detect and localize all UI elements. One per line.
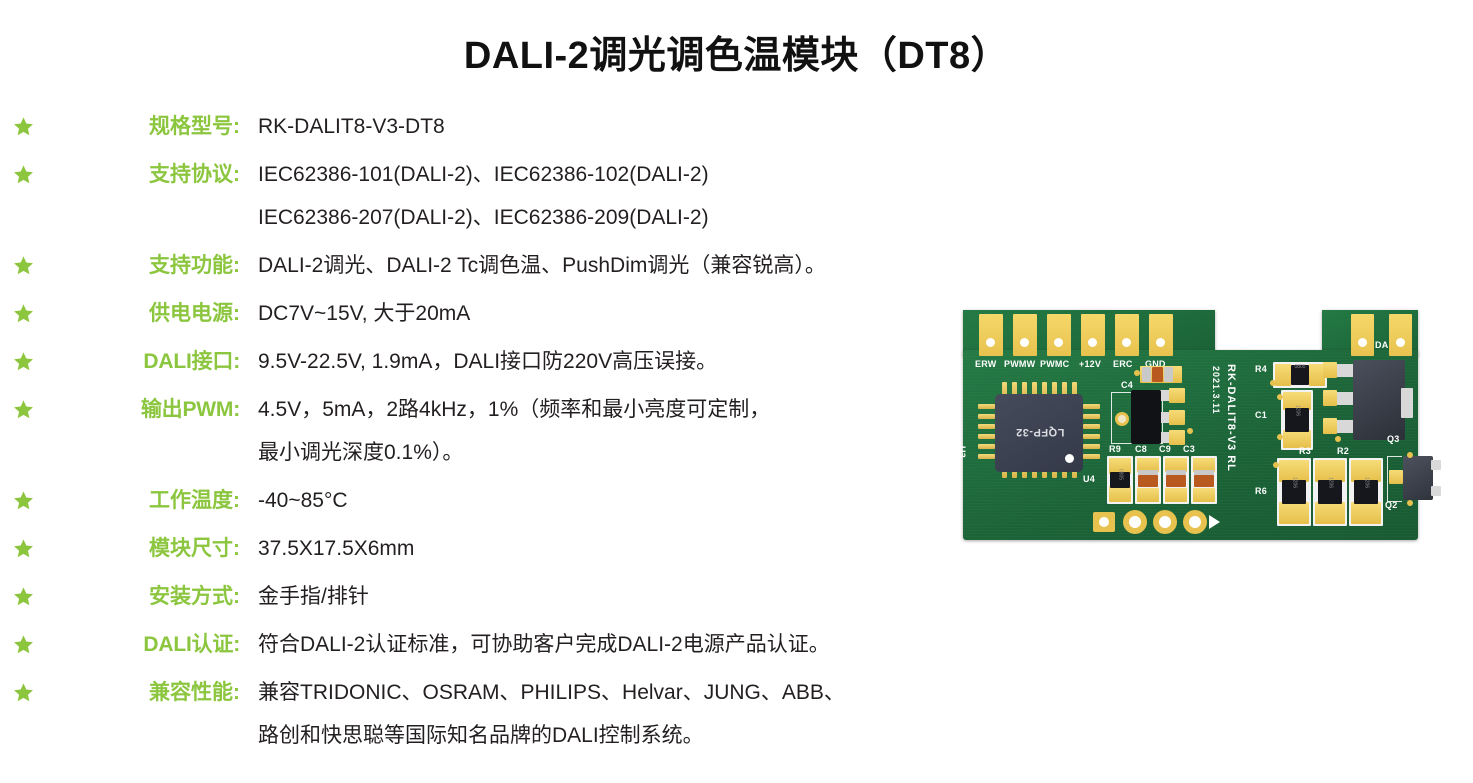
pad-r6-b [1279,502,1309,524]
spec-value-temperature: -40~85°C [240,486,980,516]
silk-refdes-q3: Q3 [1387,434,1399,444]
spec-value-protocol-line2: IEC62386-207(DALI-2)、IEC62386-209(DALI-2… [240,203,980,233]
ic-pin [1083,404,1100,409]
pad-r4-a [1275,364,1291,386]
pad-q3-a [1323,362,1337,378]
spec-label-protocol: 支持协议: [42,160,240,190]
star-icon [13,682,34,703]
pad-hole-erc [1122,338,1131,347]
silk-date-code: 2021.3.11 [1211,366,1221,415]
spec-value-power: DC7V~15V, 大于20mA [240,299,980,329]
ic-pin [978,454,995,459]
spec-row-pwm-output: 输出PWM: 4.5V，5mA，2路4kHz，1%（频率和最小亮度可定制， [0,395,980,434]
cap-c4-end-b [1164,367,1173,382]
page-title: DALI-2调光调色温模块（DT8） [0,24,1473,79]
q2-lead [1431,460,1441,470]
ic-pin [978,424,995,429]
ic-pin [978,434,995,439]
pad-pwmc [1047,314,1071,356]
orientation-triangle-icon [1209,515,1220,529]
cap-c4-body [1152,367,1163,382]
resistor-r4-body: 0805 [1291,365,1309,385]
spec-row-protocol-cont: IEC62386-207(DALI-2)、IEC62386-209(DALI-2… [0,203,980,242]
resistor-c1-code: 1206 [1295,399,1300,423]
cap-c4-end-a [1142,367,1151,382]
pad-hole-erw [986,338,995,347]
resistor-r2-code: 1206 [1364,471,1369,495]
pad-dali-b [1389,314,1412,356]
silk-refdes-c4: C4 [1121,380,1133,390]
silk-refdes-c1: C1 [1255,410,1267,420]
silk-pin-pwmc: PWMC [1040,359,1069,369]
pad-dali-a [1351,314,1374,356]
regulator-body [1131,390,1161,444]
pad-erc [1115,314,1139,356]
via [1277,394,1283,400]
pad-gnd [1149,314,1173,356]
spec-value-dimensions: 37.5X17.5X6mm [240,534,980,564]
cap-c8-body [1138,475,1158,487]
spec-row-temperature: 工作温度: -40~85°C [0,486,980,525]
silk-part-number: RK-DALIT8-V3 RL [1225,364,1237,472]
resistor-r9-code: 0805 [1118,465,1123,485]
pad-hole-12v [1088,338,1097,347]
spec-row-dali-interface: DALI接口: 9.5V-22.5V, 1.9mA，DALI接口防220V高压误… [0,347,980,386]
spec-row-compatibility: 兼容性能: 兼容TRIDONIC、OSRAM、PHILIPS、Helvar、JU… [0,678,980,717]
q2-lead [1431,486,1441,496]
spec-row-dimensions: 模块尺寸: 37.5X17.5X6mm [0,534,980,573]
spec-label-mounting: 安装方式: [42,582,240,612]
pad-hole-dali-a [1358,338,1367,347]
pad-r3-b [1315,502,1345,524]
via [1134,370,1140,376]
pad-q3-c [1323,418,1337,434]
spec-value-pwm-line2: 最小调光深度0.1%）。 [240,438,980,468]
resistor-c1-body: 1206 [1285,408,1309,432]
resistor-r3-code: 1206 [1328,471,1333,495]
ic-pin [1083,434,1100,439]
pad-r9-b [1109,486,1131,502]
star-icon [13,303,34,324]
ic-pin1-dot [1065,454,1074,463]
sot-pad [1169,388,1185,403]
silk-refdes-r6: R6 [1255,486,1267,496]
spec-value-dali-interface: 9.5V-22.5V, 1.9mA，DALI接口防220V高压误接。 [240,347,980,377]
silk-refdes-r9: R9 [1109,444,1121,454]
pad-erw [979,314,1003,356]
pad-q2-a [1389,470,1403,484]
via [1187,428,1193,434]
star-bullet-cell [0,630,42,655]
star-bullet-cell [0,678,42,703]
spec-row-certification: DALI认证: 符合DALI-2认证标准，可协助客户完成DALI-2电源产品认证… [0,630,980,669]
star-icon [13,490,34,511]
star-bullet-cell [0,347,42,372]
pad-c8-b [1137,488,1159,502]
th-hole-1 [1099,517,1109,527]
via [1407,452,1413,458]
resistor-r6-body: 1206 [1282,480,1306,504]
spec-row-pwm-output-cont: 最小调光深度0.1%）。 [0,438,980,477]
spec-label-pwm-output: 输出PWM: [42,395,240,425]
star-icon [13,351,34,372]
pad-c9-b [1165,488,1187,502]
spec-label-compatibility: 兼容性能: [42,678,240,708]
silk-refdes-c8: C8 [1135,444,1147,454]
sot-pad [1169,410,1185,425]
star-bullet-cell [0,160,42,185]
th-hole-4 [1189,516,1201,528]
spec-label-function: 支持功能: [42,251,240,281]
silk-refdes-q2: Q2 [1385,500,1397,510]
ic-lqfp32-label: LQFP-32 [1007,426,1073,438]
ic-pin [1083,424,1100,429]
resistor-r2-body: 1206 [1354,480,1378,504]
star-bullet-cell [0,299,42,324]
silk-pin-pwmw: PWMW [1004,359,1035,369]
silk-refdes-c3: C3 [1183,444,1195,454]
ic-pin [1083,444,1100,449]
spec-value-model: RK-DALIT8-V3-DT8 [240,112,980,142]
star-bullet-cell [0,534,42,559]
spec-value-certification: 符合DALI-2认证标准，可协助客户完成DALI-2电源产品认证。 [240,630,980,660]
spec-value-mounting: 金手指/排针 [240,582,980,612]
spec-value-pwm-line1: 4.5V，5mA，2路4kHz，1%（频率和最小亮度可定制， [240,395,980,425]
spec-label-certification: DALI认证: [42,630,240,660]
spec-value-protocol-line1: IEC62386-101(DALI-2)、IEC62386-102(DALI-2… [240,160,980,190]
th-hole-3 [1159,516,1171,528]
spec-row-function: 支持功能: DALI-2调光、DALI-2 Tc调色温、PushDim调光（兼容… [0,251,980,290]
pad-hole-gnd [1156,338,1165,347]
star-icon [13,116,34,137]
spec-row-compatibility-cont: 路创和快思聪等国际知名品牌的DALI控制系统。 [0,721,980,760]
silk-refdes-u3: U3 [957,446,967,458]
silk-pin-12v: +12V [1079,359,1101,369]
resistor-r3-body: 1206 [1318,480,1342,504]
spec-row-model: 规格型号: RK-DALIT8-V3-DT8 [0,112,980,151]
resistor-r9-body: 0805 [1110,472,1130,488]
spec-value-compat-line1: 兼容TRIDONIC、OSRAM、PHILIPS、Helvar、JUNG、ABB… [240,678,980,708]
star-icon [13,634,34,655]
pad-c3-b [1193,488,1215,502]
spec-label-power: 供电电源: [42,299,240,329]
cap-c9-body [1166,475,1186,487]
pad-hole-dali-b [1396,338,1405,347]
ic-pin [978,404,995,409]
via-hole [1118,415,1126,423]
specification-list: 规格型号: RK-DALIT8-V3-DT8 支持协议: IEC62386-10… [0,112,980,760]
star-bullet-cell [0,395,42,420]
transistor-q2-body [1403,456,1433,500]
spec-label-temperature: 工作温度: [42,486,240,516]
star-bullet-cell [0,112,42,137]
via [1273,462,1279,468]
pad-r2-b [1351,502,1381,524]
spec-row-power: 供电电源: DC7V~15V, 大于20mA [0,299,980,338]
spec-row-protocol: 支持协议: IEC62386-101(DALI-2)、IEC62386-102(… [0,160,980,199]
silk-dali-label: DA [1375,340,1388,350]
via [1277,434,1283,440]
pad-hole-pwmw [1020,338,1029,347]
sot-pad [1169,430,1185,445]
ic-pin [1083,414,1100,419]
th-hole-2 [1129,516,1141,528]
star-icon [13,399,34,420]
via [1407,500,1413,506]
mosfet-q3-body [1353,360,1405,440]
spec-label-dali-interface: DALI接口: [42,347,240,377]
silk-refdes-u4: U4 [1083,474,1095,484]
silk-refdes-r3: R3 [1299,446,1311,456]
pcb-module-image: ERW PWMW PWMC +12V ERC GND DA LQFP-32 U3… [955,306,1425,546]
star-icon [13,164,34,185]
spec-label-model: 规格型号: [42,112,240,142]
star-bullet-cell [0,582,42,607]
silk-refdes-r2: R2 [1337,446,1349,456]
resistor-r6-code: 1206 [1292,471,1297,495]
pad-pwmw [1013,314,1037,356]
pad-12v [1081,314,1105,356]
mosfet-q3-tab [1401,388,1413,418]
spec-value-function: DALI-2调光、DALI-2 Tc调色温、PushDim调光（兼容锐高）。 [240,251,980,281]
star-bullet-cell [0,486,42,511]
pad-q3-b [1323,390,1337,406]
star-icon [13,255,34,276]
resistor-r4-code: 0805 [1291,365,1309,370]
pad-hole-pwmc [1054,338,1063,347]
silk-refdes-r4: R4 [1255,364,1267,374]
silk-refdes-c9: C9 [1159,444,1171,454]
spec-label-dimensions: 模块尺寸: [42,534,240,564]
silk-pin-erw: ERW [975,359,996,369]
star-icon [13,538,34,559]
ic-pin [978,414,995,419]
cap-c3-body [1194,475,1214,487]
silk-pin-erc: ERC [1113,359,1133,369]
star-icon [13,586,34,607]
spec-row-mounting: 安装方式: 金手指/排针 [0,582,980,621]
ic-pin [1083,454,1100,459]
ic-pin [978,444,995,449]
via [1335,436,1341,442]
via [1270,380,1276,386]
star-bullet-cell [0,251,42,276]
spec-value-compat-line2: 路创和快思聪等国际知名品牌的DALI控制系统。 [240,721,980,751]
